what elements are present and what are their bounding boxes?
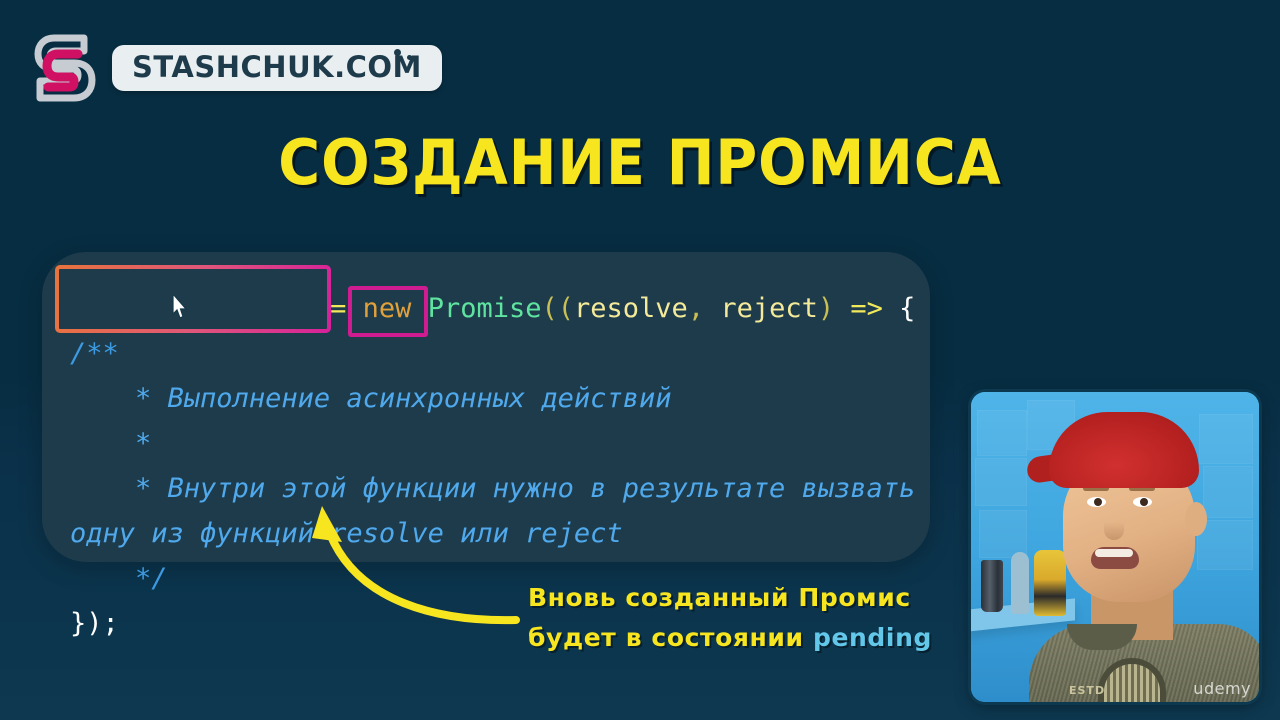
figurine-yellow <box>1034 550 1066 616</box>
eye-right <box>1133 497 1152 507</box>
figurine-grey <box>1011 552 1029 614</box>
token-closing: }); <box>70 608 119 639</box>
arrow-svg <box>288 492 548 642</box>
token-reject-param: reject <box>720 293 818 324</box>
brand-header: STASHCHUK.COM <box>34 32 442 104</box>
slide-canvas: STASHCHUK.COM СОЗДАНИЕ ПРОМИСА const myP… <box>0 0 1280 720</box>
token-comment-line-2: * <box>135 428 151 459</box>
pen-cup <box>981 560 1003 612</box>
annotation-arrow-icon <box>288 492 548 647</box>
token-arrow: => <box>834 293 899 324</box>
annotation-line-1: Вновь созданный Промис <box>528 578 932 618</box>
brand-name-text: STASHCHUK.COM <box>132 53 422 82</box>
declaration-highlight-box <box>55 265 331 333</box>
token-assign: = <box>330 293 346 324</box>
brand-dot-2 <box>407 55 412 60</box>
token-comma: , <box>688 293 721 324</box>
token-comment-line-1: * Выполнение асинхронных действий <box>135 383 671 414</box>
new-keyword-highlight-box <box>348 286 428 337</box>
annotation-pending-state: pending <box>813 623 932 652</box>
person-ear <box>1185 502 1207 536</box>
person-mouth <box>1091 547 1139 569</box>
token-close-paren: ) <box>818 293 834 324</box>
token-comment-close: */ <box>135 563 168 594</box>
eye-left <box>1087 497 1106 507</box>
mouse-cursor-icon <box>172 294 188 321</box>
annotation-line-2: будет в состоянии pending <box>528 618 932 658</box>
cursor-svg <box>172 294 188 321</box>
shirt-print-text: ESTD <box>1069 684 1105 697</box>
brand-dot-1 <box>394 49 401 56</box>
webcam-overlay[interactable]: ESTD udemy <box>971 392 1259 702</box>
annotation-note: Вновь созданный Промис будет в состоянии… <box>528 578 932 658</box>
token-open-parens: (( <box>542 293 575 324</box>
token-promise-class: Promise <box>428 293 542 324</box>
annotation-line-2-prefix: будет в состоянии <box>528 623 813 652</box>
token-open-brace: { <box>899 293 915 324</box>
person-nose <box>1104 510 1124 540</box>
logo-svg <box>34 32 96 104</box>
brand-name-pill: STASHCHUK.COM <box>112 45 442 91</box>
token-comment-open: /** <box>70 338 119 369</box>
token-resolve-param: resolve <box>574 293 688 324</box>
page-title: СОЗДАНИЕ ПРОМИСА <box>51 126 1229 199</box>
stashchuk-logo-icon <box>34 32 96 104</box>
udemy-watermark: udemy <box>1193 679 1251 698</box>
